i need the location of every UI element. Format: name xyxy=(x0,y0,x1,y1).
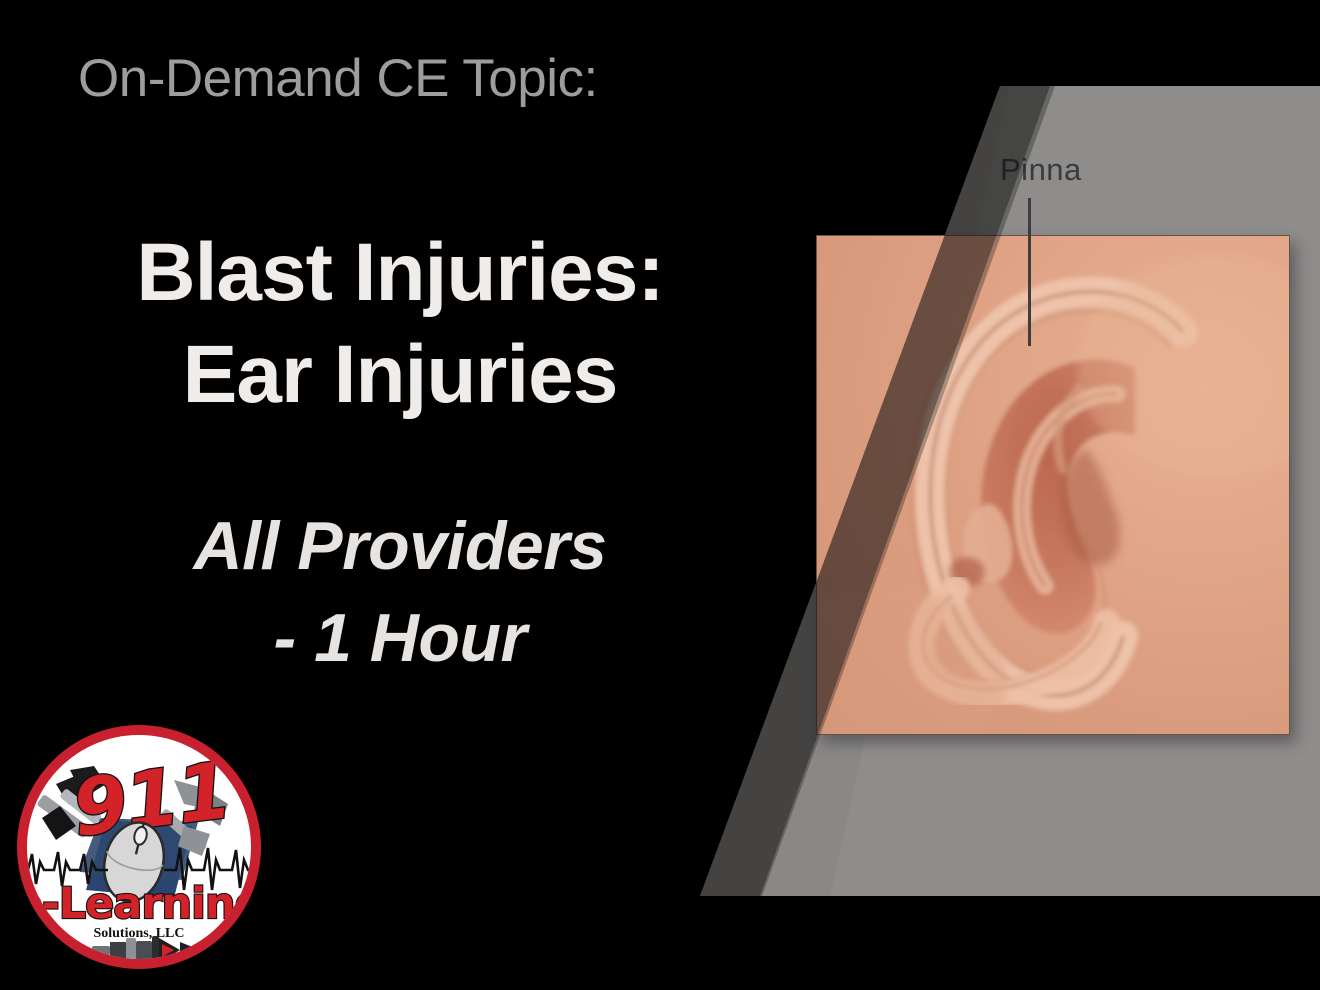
slide-canvas: Pinna On-Demand CE Topic: Blast Injuries… xyxy=(0,0,1320,990)
pinna-leader-line xyxy=(1028,198,1031,346)
ear-illustration-card xyxy=(816,235,1290,735)
ear-skin-background xyxy=(817,236,1289,734)
subtitle-line-1: All Providers xyxy=(0,500,800,592)
subtitle-line-2: - 1 Hour xyxy=(0,592,800,684)
title-line-1: Blast Injuries: xyxy=(0,222,800,324)
logo-badge: 911 e-Learning Solutions, LLC xyxy=(14,722,264,972)
eyebrow-label: On-Demand CE Topic: xyxy=(78,48,598,109)
pinna-label: Pinna xyxy=(1000,152,1082,188)
brand-suffix-label: Solutions, LLC xyxy=(93,926,184,941)
ear-anatomy-illustration xyxy=(817,236,1289,734)
brand-logo[interactable]: 911 e-Learning Solutions, LLC xyxy=(14,722,264,972)
page-title: Blast Injuries: Ear Injuries xyxy=(0,222,800,426)
page-subtitle: All Providers - 1 Hour xyxy=(0,500,800,684)
title-line-2: Ear Injuries xyxy=(0,324,800,426)
